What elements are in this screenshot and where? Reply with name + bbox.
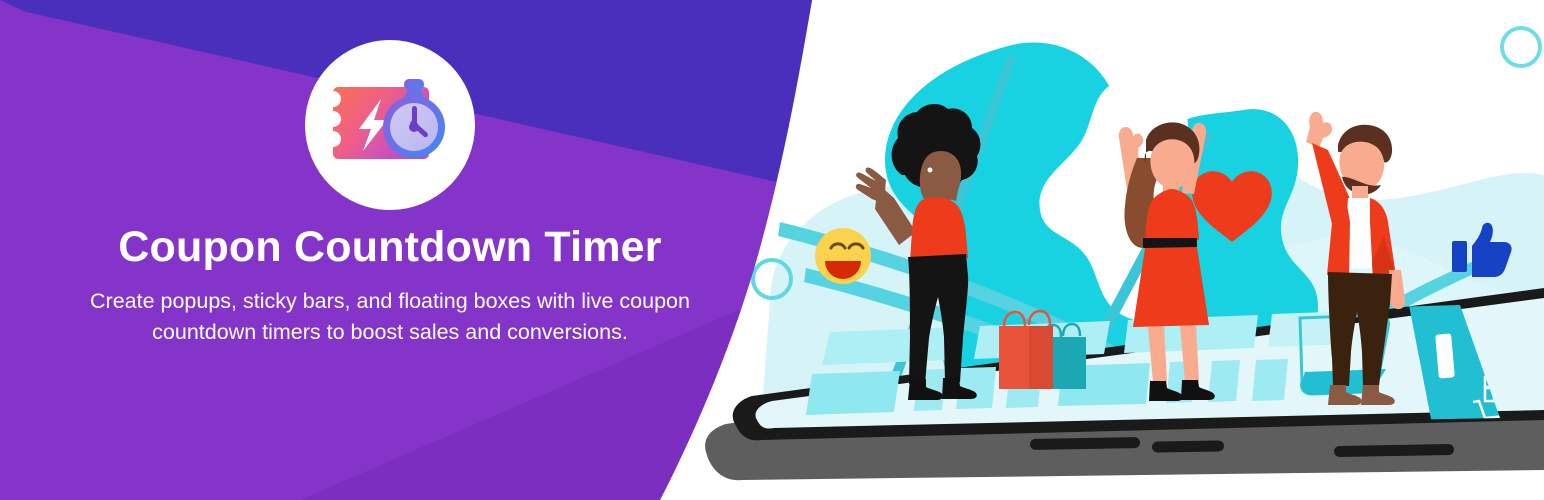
logo-artwork — [315, 50, 465, 200]
logo-badge[interactable] — [305, 40, 475, 210]
banner-root: Coupon Countdown Timer Create popups, st… — [0, 0, 1544, 500]
purple-panel — [0, 0, 1544, 500]
